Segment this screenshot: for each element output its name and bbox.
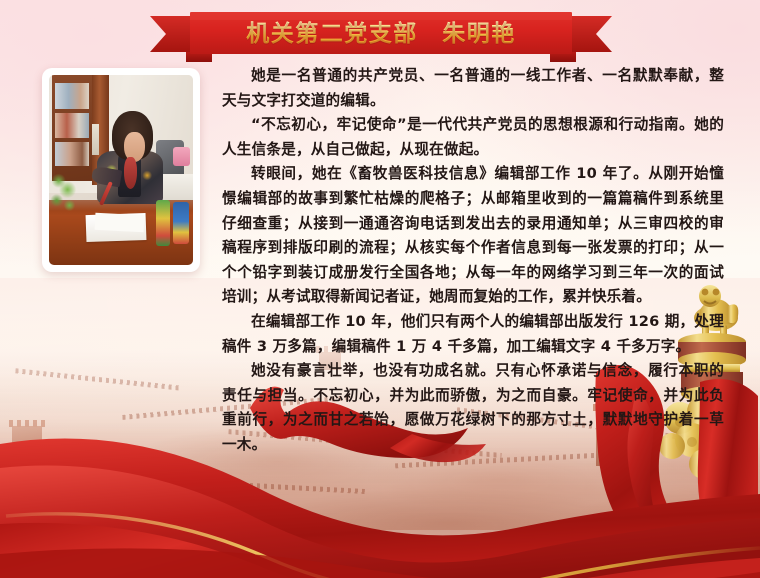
photo-manuscript-papers — [95, 212, 145, 232]
banner: 机关第二党支部 朱明艳 — [150, 10, 612, 68]
photo-desk-cup — [156, 200, 170, 246]
article-paragraph: 转眼间，她在《畜牧兽医科技信息》编辑部工作 10 年了。从刚开始憧憬编辑部的故事… — [222, 162, 724, 310]
article-paragraph: 她是一名普通的共产党员、一名普通的一线工作者、一名默默奉献，整天与文字打交道的编… — [222, 64, 724, 113]
article-paragraph: 在编辑部工作 10 年，他们只有两个人的编辑部出版发行 126 期，处理稿件 3… — [222, 310, 724, 359]
photo-bookshelf-row — [55, 142, 90, 167]
photo-pen-holder — [173, 202, 189, 244]
article-body: 她是一名普通的共产党员、一名普通的一线工作者、一名默默奉献，整天与文字打交道的编… — [222, 64, 724, 458]
photo-bookshelf-row — [55, 83, 90, 110]
photo-green-plant — [49, 170, 81, 219]
portrait-photo-image — [49, 75, 193, 265]
photo-wall-tag — [92, 124, 99, 154]
photo-bookshelf-row — [55, 113, 90, 138]
portrait-photo — [42, 68, 200, 272]
article-paragraph: 她没有豪言壮举，也没有功成名就。只有心怀承诺与信念，履行本职的责任与担当。不忘初… — [222, 359, 724, 457]
poster-root: 机关第二党支部 朱明艳 她是一名普通的共产党员、一名普通的一线工作者、一名默默奉… — [0, 0, 760, 578]
banner-title: 机关第二党支部 朱明艳 — [150, 18, 612, 50]
photo-pink-object — [173, 147, 190, 166]
article-paragraph: “不忘初心，牢记使命”是一代代共产党员的思想根源和行动指南。她的人生信条是，从自… — [222, 113, 724, 162]
photo-person-scarf — [124, 157, 137, 189]
